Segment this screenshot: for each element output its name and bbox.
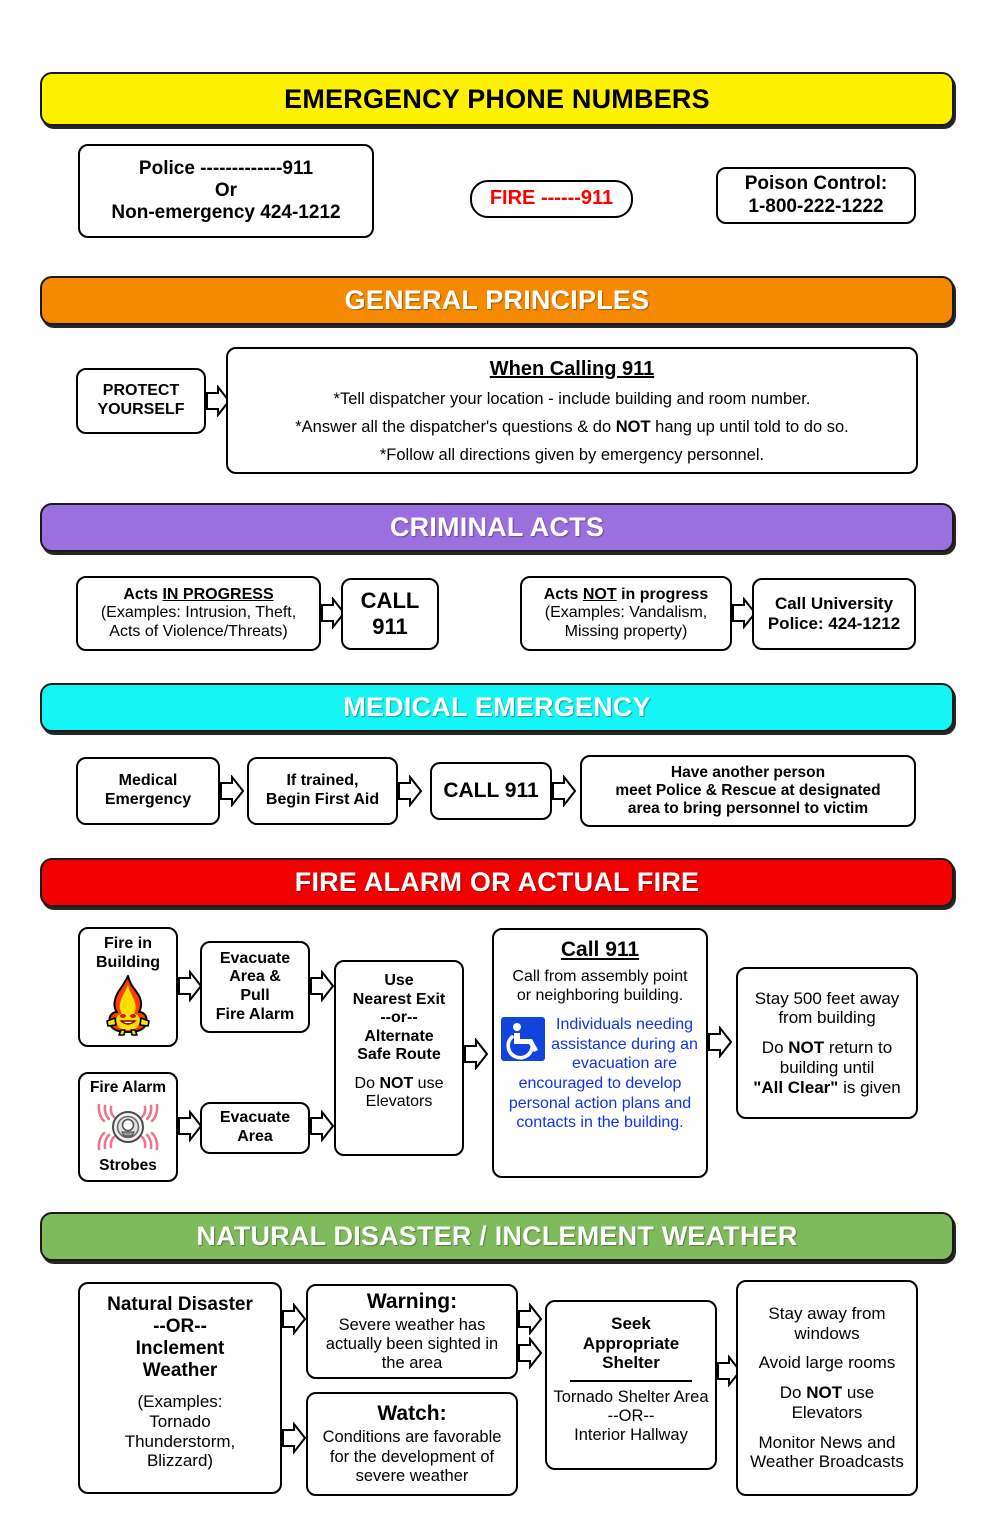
- protect-line-1: PROTECT: [103, 382, 179, 401]
- univ-police-line-1: Call University: [775, 594, 893, 614]
- banner-label: MEDICAL EMERGENCY: [343, 692, 650, 723]
- box-call-911-fire: Call 911 Call from assembly point or nei…: [492, 928, 708, 1178]
- box-medical-emergency: Medical Emergency: [76, 757, 220, 825]
- warning-line-1: Severe weather has: [339, 1316, 486, 1335]
- warning-line-2: actually been sighted in: [326, 1335, 498, 1354]
- evac-area-line-2: Area: [237, 1128, 273, 1147]
- box-seek-shelter: Seek Appropriate Shelter Tornado Shelter…: [545, 1300, 717, 1470]
- acts-in-progress-ex-1: (Examples: Intrusion, Theft,: [101, 604, 296, 623]
- banner-criminal-acts: CRIMINAL ACTS: [40, 503, 954, 552]
- stay-line-1: Stay 500 feet away: [755, 989, 900, 1009]
- shelter-title-3: Shelter: [602, 1353, 660, 1373]
- box-call-university-police: Call University Police: 424-1212: [752, 578, 916, 650]
- wheelchair-accessibility-icon: [501, 1017, 545, 1061]
- acts-in-progress-ex-2: Acts of Violence/Threats): [109, 623, 287, 642]
- shelter-detail-3: Interior Hallway: [574, 1426, 688, 1445]
- meet-line-3: area to bring personnel to victim: [628, 800, 868, 818]
- arrow-medical-to-firstaid: [220, 775, 244, 807]
- arrow-firebuilding-to-evacuatepull: [178, 970, 202, 1002]
- watch-line-2: for the development of: [330, 1448, 494, 1467]
- exit-line-4: Alternate: [364, 1028, 433, 1047]
- banner-natural-disaster: NATURAL DISASTER / INCLEMENT WEATHER: [40, 1212, 954, 1261]
- stay-line-2: from building: [778, 1008, 875, 1028]
- shelter-title-2: Appropriate: [583, 1334, 679, 1354]
- flame-character-icon: [99, 974, 157, 1036]
- police-nonemergency-line: Non-emergency 424-1212: [111, 202, 340, 224]
- box-weather-safety-tips: Stay away from windows Avoid large rooms…: [736, 1280, 918, 1496]
- nd-line-3: Inclement: [136, 1338, 225, 1360]
- final-line-3: Avoid large rooms: [759, 1353, 896, 1373]
- emergency-procedures-poster: EMERGENCY PHONE NUMBERS Police ---------…: [0, 0, 994, 1536]
- banner-label: FIRE ALARM OR ACTUAL FIRE: [295, 867, 699, 898]
- watch-title: Watch:: [377, 1402, 446, 1426]
- box-begin-first-aid: If trained, Begin First Aid: [247, 757, 398, 825]
- banner-label: GENERAL PRINCIPLES: [345, 285, 650, 316]
- box-use-nearest-exit: Use Nearest Exit --or-- Alternate Safe R…: [334, 960, 464, 1156]
- exit-line-5: Safe Route: [357, 1046, 441, 1065]
- evac-pull-line-1: Evacuate: [220, 950, 290, 969]
- call-911-fire-line-1: Call from assembly point: [512, 968, 687, 987]
- meet-line-2: meet Police & Rescue at designated: [615, 782, 880, 800]
- box-police-number: Police -------------911 Or Non-emergency…: [78, 144, 374, 238]
- poison-control-number: 1-800-222-1222: [748, 196, 883, 218]
- acts-not-in-progress-title: Acts NOT in progress: [544, 586, 708, 605]
- box-when-calling-911: When Calling 911 *Tell dispatcher your l…: [226, 347, 918, 474]
- meet-line-1: Have another person: [671, 764, 825, 782]
- evac-area-line-1: Evacuate: [220, 1109, 290, 1128]
- arrow-exit-to-call911fire: [464, 1038, 488, 1070]
- police-or-line: Or: [215, 180, 237, 202]
- evac-pull-line-4: Fire Alarm: [216, 1006, 295, 1025]
- nd-line-1: Natural Disaster: [107, 1294, 253, 1316]
- acts-not-in-progress-ex-2: Missing property): [565, 623, 688, 642]
- box-watch: Watch: Conditions are favorable for the …: [306, 1392, 518, 1496]
- arrow-evacuatearea-to-exit: [310, 1110, 334, 1142]
- exit-no-elevators-line-2: Elevators: [366, 1093, 433, 1112]
- final-line-2: windows: [794, 1324, 859, 1344]
- arrow-call911-to-meetpolice: [552, 775, 576, 807]
- nd-line-4: Weather: [143, 1360, 218, 1382]
- stay-line-3: Do NOT return to: [762, 1038, 892, 1058]
- calling-bullet-1: *Tell dispatcher your location - include…: [334, 390, 811, 409]
- banner-general-principles: GENERAL PRINCIPLES: [40, 276, 954, 325]
- box-poison-control: Poison Control: 1-800-222-1222: [716, 167, 916, 224]
- arrow-strobes-to-evacuatearea: [178, 1110, 202, 1142]
- warning-title: Warning:: [367, 1290, 457, 1314]
- stay-line-5: "All Clear" is given: [753, 1078, 900, 1098]
- arrow-call911fire-to-stayaway: [708, 1026, 732, 1058]
- exit-no-elevators-line-1: Do NOT use: [355, 1075, 444, 1094]
- police-911-line: Police -------------911: [139, 158, 313, 180]
- poison-control-label: Poison Control:: [745, 173, 887, 195]
- arrow-firstaid-to-call911: [398, 775, 422, 807]
- shelter-detail-1: Tornado Shelter Area: [553, 1388, 708, 1407]
- box-call-911-medical: CALL 911: [430, 762, 552, 820]
- stay-line-4: building until: [780, 1058, 875, 1078]
- box-stay-away-from-building: Stay 500 feet away from building Do NOT …: [736, 967, 918, 1119]
- final-line-4: Do NOT use: [780, 1383, 875, 1403]
- banner-emergency-phone-numbers: EMERGENCY PHONE NUMBERS: [40, 72, 954, 126]
- final-line-1: Stay away from: [768, 1304, 885, 1324]
- call-911-fire-line-2: or neighboring building.: [517, 987, 683, 1006]
- banner-label: NATURAL DISASTER / INCLEMENT WEATHER: [196, 1221, 797, 1252]
- box-evacuate-area: Evacuate Area: [200, 1102, 310, 1154]
- warning-line-3: the area: [382, 1354, 443, 1373]
- calling-bullet-3: *Follow all directions given by emergenc…: [380, 446, 764, 465]
- box-warning: Warning: Severe weather has actually bee…: [306, 1284, 518, 1379]
- call-911-line-1: CALL: [361, 588, 420, 614]
- exit-line-3: --or--: [380, 1009, 417, 1028]
- banner-fire-alarm: FIRE ALARM OR ACTUAL FIRE: [40, 858, 954, 907]
- arrow-nd-to-warning: [282, 1303, 306, 1335]
- final-line-5: Elevators: [792, 1403, 863, 1423]
- box-fire-alarm-strobes: Fire Alarm Strobes: [78, 1072, 178, 1182]
- box-fire-in-building: Fire in Building: [78, 927, 178, 1047]
- box-protect-yourself: PROTECT YOURSELF: [76, 368, 206, 434]
- box-acts-in-progress: Acts IN PROGRESS (Examples: Intrusion, T…: [76, 576, 321, 651]
- nd-ex-2: Tornado: [149, 1412, 210, 1432]
- call-911-line-2: 911: [372, 614, 408, 640]
- nd-ex-3: Thunderstorm,: [125, 1432, 236, 1452]
- nd-ex-4: Blizzard): [147, 1451, 213, 1471]
- protect-line-2: YOURSELF: [97, 401, 184, 420]
- arrow-warning-to-shelter: [518, 1303, 542, 1335]
- shelter-title-1: Seek: [611, 1314, 651, 1334]
- fire-building-line-2: Building: [96, 954, 160, 973]
- alarm-line-2: Strobes: [99, 1157, 157, 1175]
- watch-line-1: Conditions are favorable: [323, 1428, 502, 1447]
- banner-label: EMERGENCY PHONE NUMBERS: [284, 84, 710, 115]
- shelter-detail-2: --OR--: [608, 1407, 655, 1426]
- box-meet-police-rescue: Have another person meet Police & Rescue…: [580, 755, 916, 827]
- banner-label: CRIMINAL ACTS: [390, 512, 604, 543]
- evac-pull-line-2: Area &: [229, 968, 281, 987]
- shelter-divider: [570, 1380, 692, 1382]
- acts-not-in-progress-ex-1: (Examples: Vandalism,: [545, 604, 707, 623]
- alarm-line-1: Fire Alarm: [90, 1079, 166, 1097]
- arrow-evacuatepull-to-exit: [310, 970, 334, 1002]
- box-evacuate-and-pull-alarm: Evacuate Area & Pull Fire Alarm: [200, 941, 310, 1033]
- medical-line-1: Medical: [119, 772, 178, 791]
- first-aid-line-1: If trained,: [286, 772, 358, 791]
- evac-pull-line-3: Pull: [240, 987, 269, 1006]
- final-line-6: Monitor News and: [758, 1433, 895, 1453]
- box-acts-not-in-progress: Acts NOT in progress (Examples: Vandalis…: [520, 576, 732, 651]
- box-call-911-criminal: CALL 911: [341, 578, 439, 650]
- call-911-label: CALL 911: [443, 779, 538, 803]
- exit-line-2: Nearest Exit: [353, 991, 446, 1010]
- box-fire-number: FIRE ------911: [470, 180, 633, 218]
- call-911-fire-title: Call 911: [561, 938, 639, 962]
- accessibility-note: Individuals needing assistance during an…: [501, 1015, 699, 1132]
- watch-line-3: severe weather: [356, 1467, 469, 1486]
- alarm-strobe-icon: [92, 1101, 164, 1153]
- exit-line-1: Use: [384, 972, 413, 991]
- nd-ex-1: (Examples:: [137, 1392, 222, 1412]
- acts-in-progress-title: Acts IN PROGRESS: [123, 586, 273, 605]
- univ-police-line-2: Police: 424-1212: [768, 614, 900, 634]
- banner-medical-emergency: MEDICAL EMERGENCY: [40, 683, 954, 732]
- arrow-watch-to-shelter: [518, 1337, 542, 1369]
- when-calling-911-title: When Calling 911: [490, 358, 654, 381]
- nd-line-2: --OR--: [153, 1316, 207, 1338]
- arrow-nd-to-watch: [282, 1422, 306, 1454]
- fire-number-label: FIRE ------911: [490, 187, 613, 210]
- final-line-7: Weather Broadcasts: [750, 1452, 904, 1472]
- first-aid-line-2: Begin First Aid: [266, 791, 379, 810]
- calling-bullet-2: *Answer all the dispatcher's questions &…: [295, 418, 849, 437]
- box-natural-disaster: Natural Disaster --OR-- Inclement Weathe…: [78, 1282, 282, 1494]
- fire-building-line-1: Fire in: [104, 935, 152, 954]
- medical-line-2: Emergency: [105, 791, 191, 810]
